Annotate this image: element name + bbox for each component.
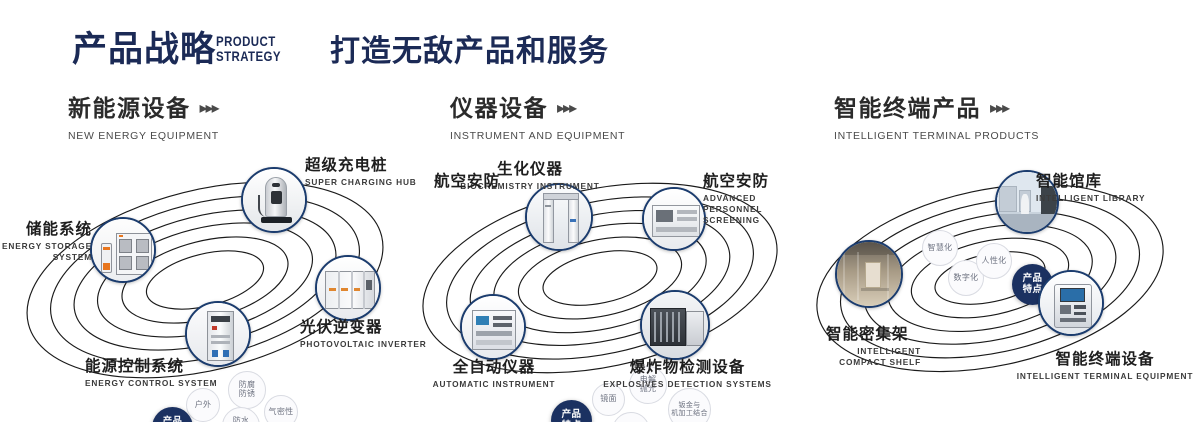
caption-energy-storage-system: 储能系统 ENERGY STORAGE SYSTEM [0,220,92,263]
section-heading-intelligent: 智能终端产品▸▸▸ INTELLIGENT TERMINAL PRODUCTS [834,95,1039,142]
feature-bubble-humanized: 人性化 [976,243,1012,279]
section-title-cn: 仪器设备▸▸▸ [450,95,625,125]
section-title-en: INSTRUMENT AND EQUIPMENT [450,130,625,142]
brand-en-line1: PRODUCT [216,34,281,49]
orbit-cluster-instrument: 镜面 电解抛光 钣金与机加工结合 零缺陷 产品特点 生化仪器 BIOCHEMIS… [400,150,820,410]
photo-energy-storage-cabinets [92,219,154,281]
photo-super-charging-hub [243,169,305,231]
brand-en-line2: STRATEGY [216,49,281,64]
caption-aviation-security-left: 航空安防 [390,172,500,191]
chevrons-icon: ▸▸▸ [557,94,575,122]
section-title-en: NEW ENERGY EQUIPMENT [68,130,219,142]
section-title-en: INTELLIGENT TERMINAL PRODUCTS [834,130,1039,142]
caption-terminal-kiosk: 智能终端设备 INTELLIGENT TERMINAL EQUIPMENT [1010,350,1200,382]
caption-compact-shelf: 智能密集架 INTELLIGENT COMPACT SHELF [826,325,921,368]
feature-bubble-airtight: 气密性 [264,395,298,422]
photo-automatic-instrument [462,296,524,358]
node-photovoltaic-inverter[interactable] [315,255,381,321]
page-header: 产品战略 PRODUCT STRATEGY 打造无敌产品和服务 [0,0,1200,86]
caption-automatic-instrument: 全自动仪器 AUTOMATIC INSTRUMENT [420,358,568,390]
header-slogan: 打造无敌产品和服务 [330,33,609,71]
section-title-cn: 智能终端产品▸▸▸ [834,95,1039,125]
node-biochemistry-instrument[interactable] [525,183,593,251]
brand-title-cn: 产品战略 [72,29,216,71]
photo-personnel-screening [644,189,704,249]
node-automatic-instrument[interactable] [460,294,526,360]
chevrons-icon: ▸▸▸ [200,94,218,122]
node-explosives-detection[interactable] [640,290,710,360]
section-title-cn: 新能源设备▸▸▸ [68,95,219,125]
node-super-charging-hub[interactable] [241,167,307,233]
section-heading-instrument: 仪器设备▸▸▸ INSTRUMENT AND EQUIPMENT [450,95,625,142]
photo-photovoltaic-inverter [317,257,379,319]
photo-energy-control-rack [187,303,249,365]
caption-energy-control-system: 能源控制系统 ENERGY CONTROL SYSTEM [85,357,217,389]
feature-bubble-zerodefect: 零缺陷 [612,412,650,422]
chevrons-icon: ▸▸▸ [990,94,1008,122]
feature-bubble-outdoor: 户外 [186,388,220,422]
node-energy-storage-system[interactable] [90,217,156,283]
node-compact-shelf[interactable] [835,240,903,308]
photo-terminal-kiosk [1040,272,1102,334]
brand-title-en: PRODUCT STRATEGY [216,34,281,64]
feature-bubble-smart: 智慧化 [922,230,958,266]
orbit-cluster-new-energy: 户外 防腐防锈 防水防尘 气密性 产品特点 储能系统 ENERGY STORAG… [0,150,420,410]
caption-intelligent-library: 智能馆库 INTELLIGENT LIBRARY [1036,172,1145,204]
caption-explosives-detection: 爆炸物检测设备 EXPLOSIVES DETECTION SYSTEMS [600,358,775,390]
feature-bubble-anticorrosion: 防腐防锈 [228,371,266,409]
node-terminal-kiosk[interactable] [1038,270,1104,336]
photo-compact-shelf [837,242,901,306]
node-personnel-screening[interactable] [642,187,706,251]
photo-explosives-detection [642,292,708,358]
orbit-cluster-intelligent: 智慧化 数字化 人性化 产品特点 智能馆库 INTELLIGENT LIBRAR… [800,150,1200,410]
section-heading-new-energy: 新能源设备▸▸▸ NEW ENERGY EQUIPMENT [68,95,219,142]
photo-biochemistry-instrument [527,185,591,249]
caption-personnel-screening: 航空安防 ADVANCED PERSONNEL SCREENING [703,172,801,226]
